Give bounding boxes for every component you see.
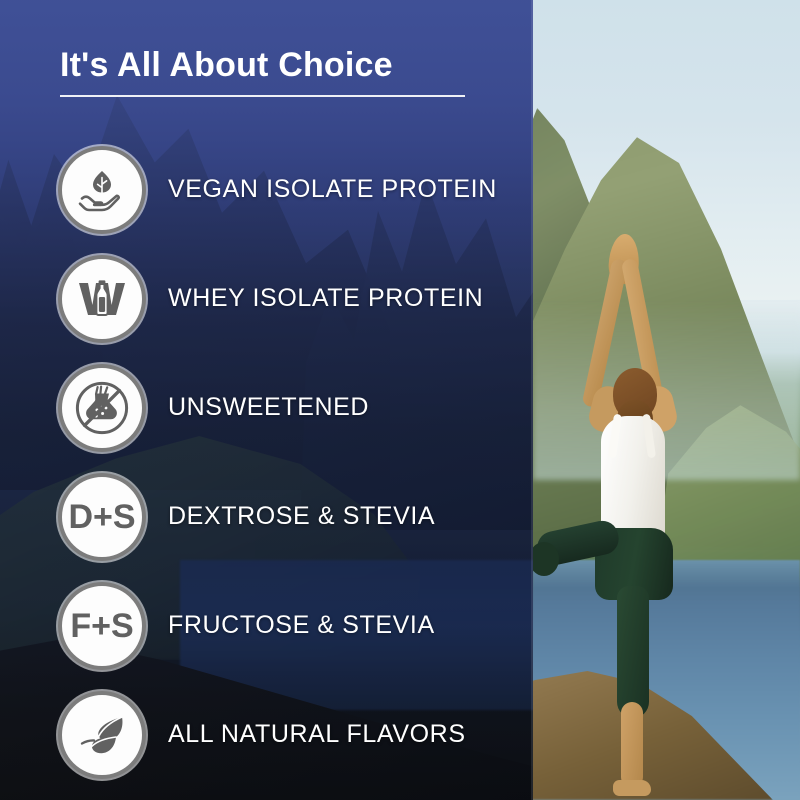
page-title: It's All About Choice <box>60 48 480 84</box>
no-sugar-bag-icon <box>58 364 146 452</box>
d-plus-s-icon: D+S <box>58 473 146 561</box>
feature-label: DEXTROSE & STEVIA <box>168 502 435 531</box>
foot <box>613 780 651 796</box>
d-plus-s-glyph-text: D+S <box>69 498 135 536</box>
feature-row[interactable]: WHEY ISOLATE PROTEIN <box>58 244 528 353</box>
yoga-photo <box>533 0 800 800</box>
f-plus-s-glyph-text: F+S <box>70 607 133 645</box>
two-leaves-icon <box>58 691 146 779</box>
title-underline <box>60 95 465 97</box>
feature-label: FRUCTOSE & STEVIA <box>168 611 435 640</box>
feature-list: VEGAN ISOLATE PROTEIN WHEY ISOLATE PROTE… <box>58 135 528 789</box>
feature-row[interactable]: ALL NATURAL FLAVORS <box>58 680 528 789</box>
feature-row[interactable]: D+S DEXTROSE & STEVIA <box>58 462 528 571</box>
feature-row[interactable]: F+S FRUCTOSE & STEVIA <box>58 571 528 680</box>
standing-leg <box>617 586 649 718</box>
feature-label: WHEY ISOLATE PROTEIN <box>168 284 483 313</box>
feature-row[interactable]: UNSWEETENED <box>58 353 528 462</box>
shin <box>621 702 643 788</box>
w-milk-bottle-icon <box>58 255 146 343</box>
content-layer: It's All About Choice VEGAN ISOLATE PROT… <box>0 0 533 800</box>
f-plus-s-icon: F+S <box>58 582 146 670</box>
hand-holding-leaf-icon <box>58 146 146 234</box>
feature-label: UNSWEETENED <box>168 393 369 422</box>
feature-label: ALL NATURAL FLAVORS <box>168 720 466 749</box>
feature-label: VEGAN ISOLATE PROTEIN <box>168 175 497 204</box>
yoga-figure <box>573 250 723 760</box>
feature-row[interactable]: VEGAN ISOLATE PROTEIN <box>58 135 528 244</box>
title-block: It's All About Choice <box>60 48 480 97</box>
feature-graphic: It's All About Choice VEGAN ISOLATE PROT… <box>0 0 800 800</box>
